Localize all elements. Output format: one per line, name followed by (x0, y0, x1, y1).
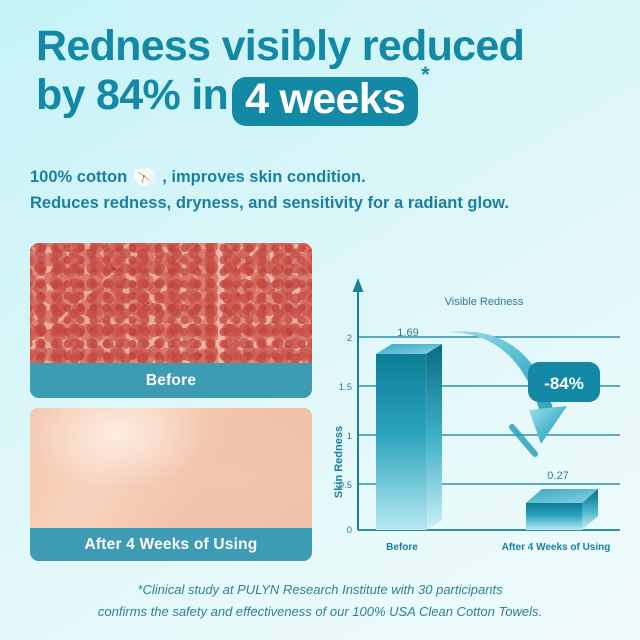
y-tick-1: 1 (347, 431, 352, 442)
y-tick-0: 0 (347, 525, 352, 536)
cotton-boll-icon (131, 166, 161, 188)
y-axis (353, 278, 364, 530)
footnote-line-2: confirms the safety and effectiveness of… (0, 601, 640, 622)
subtitle-line-1: 100% cotton , improves skin condition. (30, 165, 630, 191)
redness-bar-chart: 0 0.5 1 1.5 2 Skin Redness Visible Redne… (332, 272, 632, 557)
series-label: Visible Redness (445, 296, 524, 308)
bar-before (376, 344, 442, 530)
x-tick-after: After 4 Weeks of Using (502, 542, 611, 553)
y-tick-2: 2 (347, 333, 352, 344)
after-skin-image (30, 408, 312, 528)
y-axis-title: Skin Redness (333, 426, 345, 498)
after-photo-caption: After 4 Weeks of Using (30, 528, 312, 561)
reduction-badge: -84% (528, 362, 600, 402)
footnote-line-1: *Clinical study at PULYN Research Instit… (0, 579, 640, 600)
y-tick-1.5: 1.5 (339, 382, 352, 393)
subtitle-line-1-post: , improves skin condition. (162, 168, 366, 186)
before-photo-card: Before (30, 243, 312, 398)
study-footnote: *Clinical study at PULYN Research Instit… (0, 579, 640, 622)
headline-line-2: by 84% in4 weeks* (36, 71, 616, 122)
reduction-badge-label: -84% (544, 374, 584, 393)
before-skin-image (30, 243, 312, 363)
before-photo-caption: Before (30, 363, 312, 398)
subtitle-line-2: Reduces redness, dryness, and sensitivit… (30, 191, 630, 217)
bar-value-after: 0.27 (547, 470, 568, 482)
headline-line-1: Redness visibly reduced (36, 22, 616, 71)
chart-svg: 0 0.5 1 1.5 2 Skin Redness Visible Redne… (332, 272, 632, 557)
page-headline: Redness visibly reduced by 84% in4 weeks… (36, 22, 616, 122)
headline-asterisk: * (421, 62, 429, 87)
bar-after (526, 489, 598, 530)
page-subtitle: 100% cotton , improves skin condition. R… (30, 165, 630, 216)
headline-line-2-text: by 84% in (36, 71, 228, 119)
weeks-badge: 4 weeks (232, 77, 418, 126)
bar-value-before: 1.69 (397, 327, 418, 339)
after-photo-card: After 4 Weeks of Using (30, 408, 312, 561)
subtitle-line-1-pre: 100% cotton (30, 168, 127, 186)
x-tick-before: Before (386, 542, 418, 553)
